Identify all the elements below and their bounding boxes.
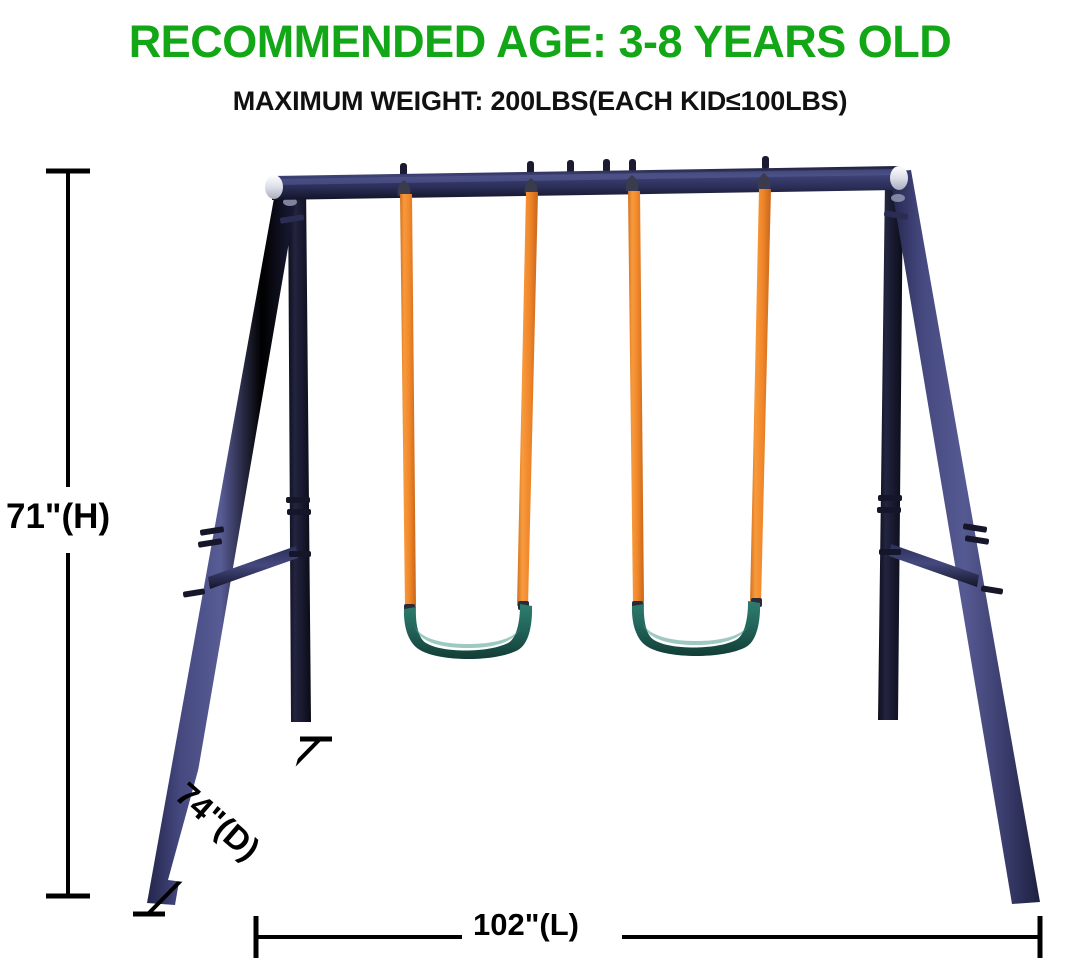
swing-right — [626, 173, 771, 656]
right-rear-leg — [878, 180, 903, 720]
dimension-line-length — [256, 905, 1040, 967]
left-swing-strap-a — [400, 194, 416, 609]
swing-left — [398, 178, 538, 659]
dimension-label-height: 71"(H) — [6, 497, 110, 537]
left-rear-leg — [288, 182, 311, 722]
right-a-frame — [877, 170, 1040, 904]
left-swing-strap-b — [517, 192, 538, 606]
swing-set-illustration — [0, 0, 1080, 972]
dimension-label-length: 102"(L) — [473, 907, 579, 943]
right-swing-strap-a — [628, 191, 644, 606]
right-beam-end-cap — [890, 166, 908, 190]
swing-set-dimension-diagram: RECOMMENDED AGE: 3-8 YEARS OLD MAXIMUM W… — [0, 0, 1080, 972]
right-front-leg — [889, 170, 1040, 904]
right-swing-seat — [632, 601, 760, 656]
right-swing-strap-b — [750, 189, 771, 603]
top-beam — [265, 156, 908, 200]
left-beam-end-cap — [265, 175, 283, 199]
left-swing-seat — [404, 604, 532, 659]
right-leg-logo-icon — [891, 194, 905, 202]
